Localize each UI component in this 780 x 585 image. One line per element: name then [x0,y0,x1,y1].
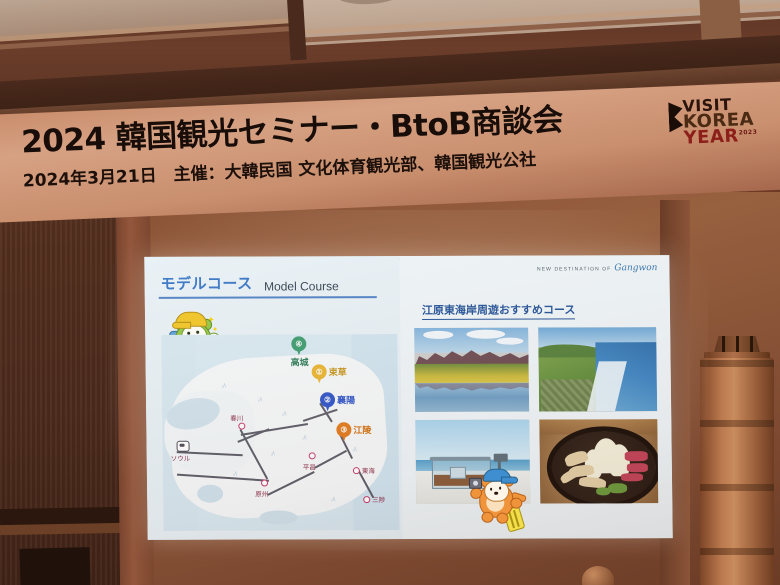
photo-meat [624,451,647,461]
mascot-arm [510,498,522,509]
map-pin-tail [341,433,347,441]
map-city-icon-seoul [177,441,190,452]
mascot-camera [469,478,482,489]
map-pin-tail [325,403,331,411]
logo-year-number: 2023 [738,129,757,137]
map-city-dot [261,479,268,486]
map-terrain-mark: ᠕ [233,467,237,478]
map-city-label: 平昌 [303,461,316,471]
photo-grid [414,327,660,510]
map-city-label: 原州 [255,488,268,498]
photo-hotpot-dish [539,419,658,503]
mascot-leg [481,512,493,523]
map-terrain-mark: ᠕ [282,406,286,417]
map-terrain-mark: ᠕ [258,393,262,404]
projected-slide: モデルコース Model Course NEW DESTINATION OFGa… [144,255,672,540]
map-pin-label: 江陵 [353,423,371,436]
map-city-label: 東海 [362,465,375,475]
photo-cloud [496,338,523,345]
map-city-dot [353,467,360,474]
logo-line-year: YEAR2023 [683,127,780,148]
map-pin-tail [296,347,302,355]
wall-left-dark-recess [19,547,90,585]
photo-cloud [423,331,453,339]
photo-coastal-aerial [538,327,657,411]
map-terrain-mark: ᠕ [302,430,306,441]
map-water-body [197,485,223,503]
column-ring [700,484,774,491]
map-terrain-mark: ᠕ [353,442,357,453]
photo-shelter-roof [429,457,491,461]
photo-vegetable [596,487,611,495]
map-city-label: 三陟 [372,494,385,504]
map-pin-label: 束草 [329,365,347,378]
decorative-column [700,358,774,585]
map-terrain-mark: ᠕ [271,446,275,457]
ceiling-gap [285,0,306,60]
gangwon-course-map: ᠕ ᠕ ᠕ ᠕ ᠕ ᠕ ᠕ ᠕ ソウル 春川 原 [161,334,399,531]
map-city-dot [363,496,370,503]
photo-hills [538,344,602,358]
slide-title-jp: モデルコース [160,273,252,294]
map-city-label: ソウル [171,453,191,463]
map-pin-goseong[interactable]: ④ 高城 [291,336,306,355]
mascot-nose [494,492,498,495]
photo-cloud [467,329,506,338]
map-pin-label: 高城 [290,355,308,368]
mascot-leg [496,513,508,524]
map-city-dot [238,423,245,430]
photo-pot [546,426,658,504]
photo-shelter-sign [450,467,466,479]
photo-bus-sign [493,453,507,461]
photo-meat [627,463,648,472]
photo-town [541,379,593,411]
map-terrain-mark: ᠕ [331,492,335,503]
column-ring [700,548,774,555]
map-terrain-mark: ᠕ [222,379,226,390]
map-pin-sokcho[interactable]: ① 束草 [312,364,327,383]
map-pin-label: 襄陽 [337,393,355,406]
photo-mountain-lake [414,328,529,412]
wall-left-baseboard-trim [0,523,122,535]
mascot-eye [196,331,199,334]
photo-vegetable [608,483,627,493]
visit-korea-year-logo: VISIT KOREA YEAR2023 [682,96,780,148]
map-pin-yangyang[interactable]: ② 襄陽 [320,392,335,411]
photo-meat [621,473,644,482]
map-city-label: 春川 [230,413,243,423]
mascot-cap-brim [501,477,518,484]
orange-tiger-mascot [469,468,526,530]
slide-title-en: Model Course [264,279,339,293]
map-pin-gangneung[interactable]: ③ 江陵 [336,422,351,441]
column-ring [700,360,774,367]
conference-room-scene: 2024 韓国観光セミナー・BtoB商談会 2024年3月21日 主催：大韓民国… [0,0,780,585]
slide-right-content: 江原東海岸周遊おすすめコース [399,255,672,539]
mascot-cap-brim [172,322,191,329]
column-ring [700,420,774,427]
map-pin-tail [316,375,322,383]
map-city-dot [309,452,316,459]
map-water-body [259,510,297,524]
photo-mushroom [559,467,579,484]
photo-field [415,364,529,385]
recommended-course-heading: 江原東海岸周遊おすすめコース [422,301,576,320]
slide-title-block: モデルコース Model Course [160,272,385,294]
